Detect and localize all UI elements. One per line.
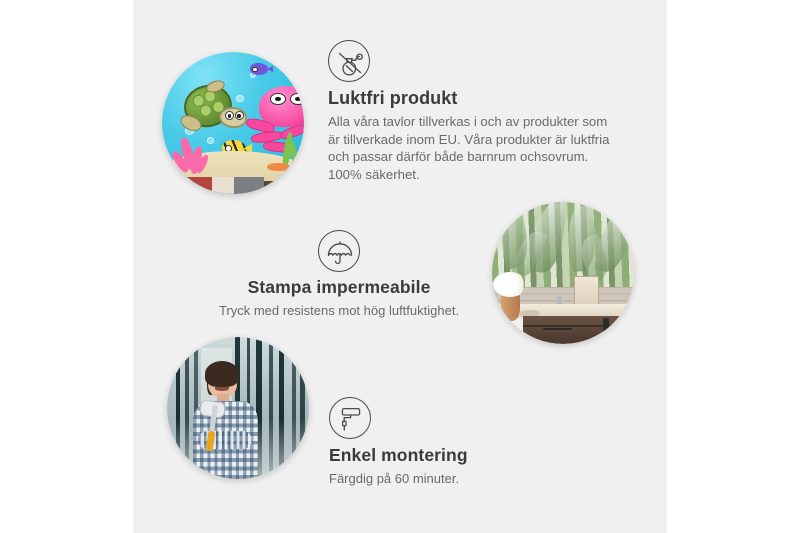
feature-title: Stampa impermeabile (206, 277, 472, 298)
feature-title: Enkel montering (329, 445, 579, 466)
photo-woman-paint-roller (167, 337, 309, 479)
feature-waterproof: Stampa impermeabile Tryck med resistens … (206, 230, 472, 320)
turtle-illustration (179, 85, 244, 132)
feature-odor-free: Luktfri produkt Alla våra tavlor tillver… (328, 40, 620, 183)
feature-body: Alla våra tavlor tillverkas i och av pro… (328, 113, 620, 183)
photo-bathroom-tropical (492, 202, 634, 344)
umbrella-icon (318, 230, 360, 272)
photo-underwater-scene (162, 52, 304, 194)
screenshot-root: Luktfri produkt Alla våra tavlor tillver… (0, 0, 800, 533)
feature-body: Färgdig på 60 minuter. (329, 470, 579, 488)
paint-roller-icon (329, 397, 371, 439)
feature-easy-mounting: Enkel montering Färgdig på 60 minuter. (329, 397, 579, 488)
no-perfume-icon (328, 40, 370, 82)
feature-title: Luktfri produkt (328, 88, 620, 109)
feature-body: Tryck med resistens mot hög luftfuktighe… (206, 302, 472, 320)
